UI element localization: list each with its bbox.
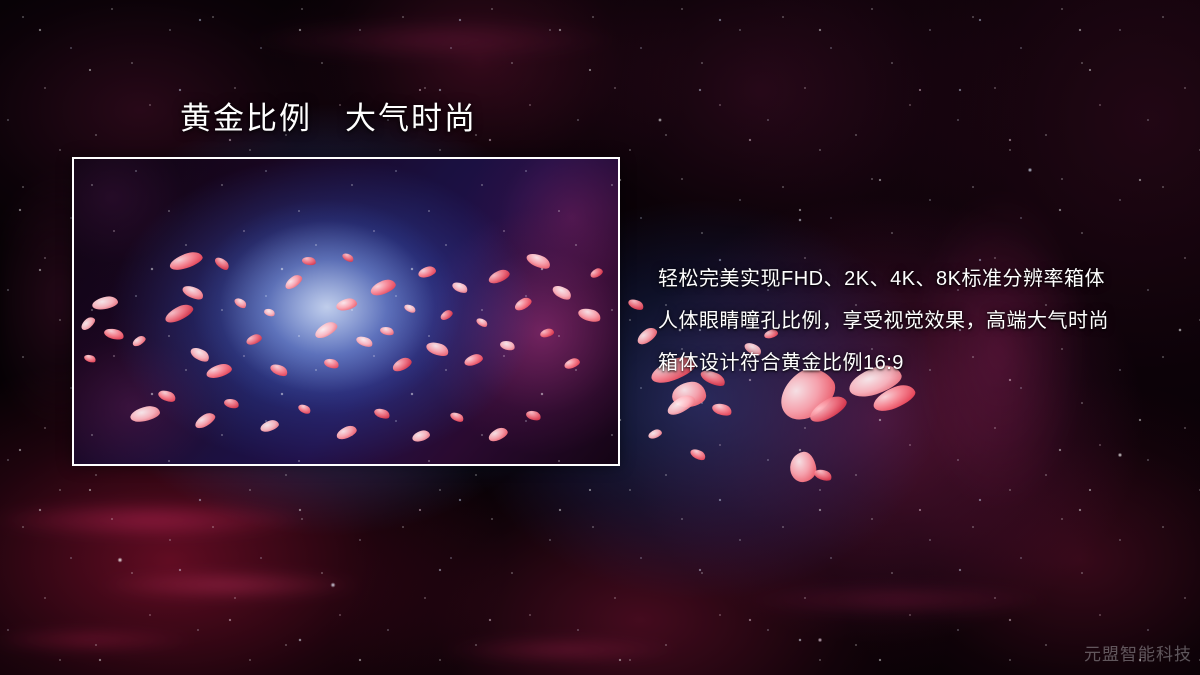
body-text-line-3: 箱体设计符合黄金比例16:9 xyxy=(658,342,1158,384)
page-title: 黄金比例 大气时尚 xyxy=(180,99,477,139)
body-text-line-1: 轻松完美实现FHD、2K、4K、8K标准分辨率箱体 xyxy=(658,258,1158,300)
watermark-label: 元盟智能科技 xyxy=(1084,640,1192,665)
slide-canvas: 黄金比例 大气时尚 轻松完美实现FHD、2K、4K、8K标准分辨率箱体 人体眼睛… xyxy=(0,0,1200,675)
picture-frame xyxy=(72,157,620,466)
picture-content xyxy=(74,159,618,464)
body-text-line-2: 人体眼睛瞳孔比例，享受视觉效果，高端大气时尚 xyxy=(658,300,1158,342)
picture-starfield xyxy=(74,159,618,464)
body-text-block: 轻松完美实现FHD、2K、4K、8K标准分辨率箱体 人体眼睛瞳孔比例，享受视觉效… xyxy=(658,258,1158,384)
